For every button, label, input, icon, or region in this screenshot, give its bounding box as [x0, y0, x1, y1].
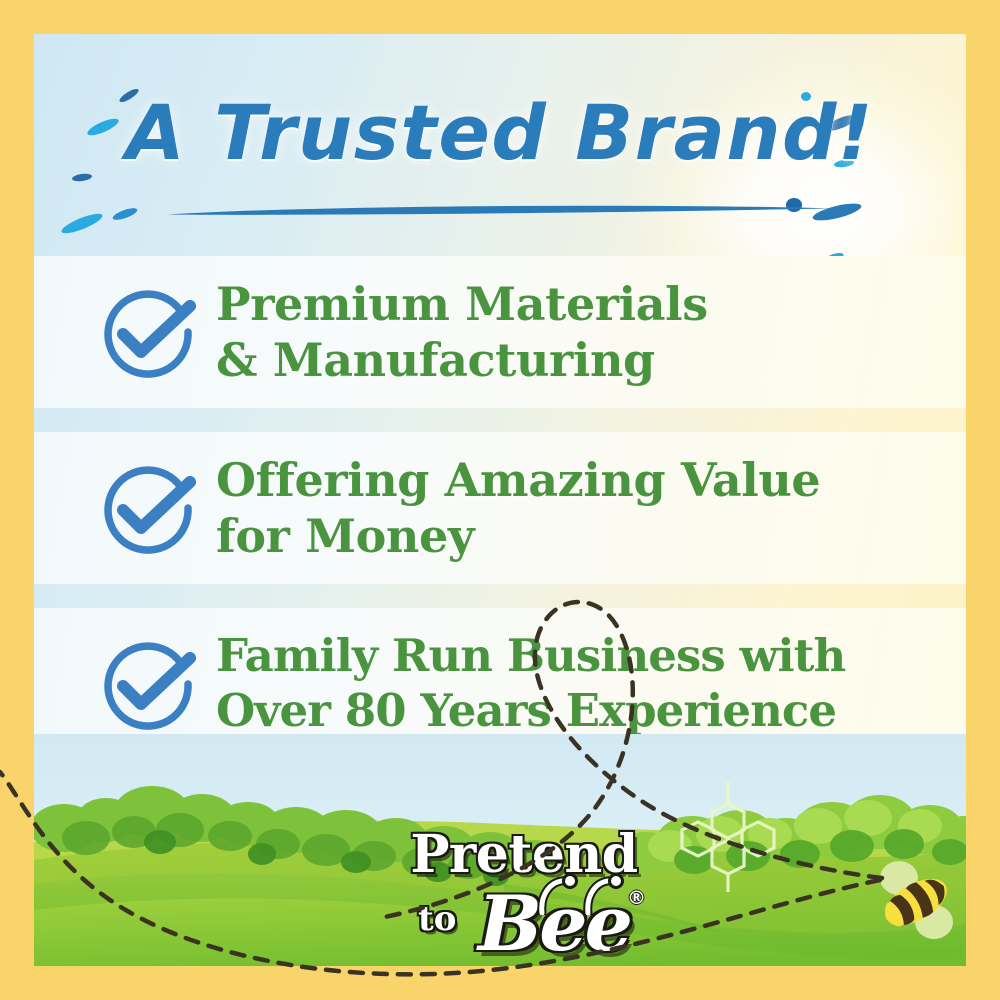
bee-illustration	[872, 860, 960, 944]
check-circle-icon	[94, 632, 202, 736]
landscape-scene	[34, 734, 966, 966]
page-title: A Trusted Brand!	[34, 88, 966, 177]
headline-underline	[166, 203, 834, 218]
benefit-row: Offering Amazing Value for Money	[34, 432, 966, 584]
headline-section: A Trusted Brand!	[34, 70, 966, 245]
benefit-label: Offering Amazing Value for Money	[216, 452, 820, 564]
poster-inner-panel: A Trusted Brand! Premium Materials & Man…	[34, 34, 966, 966]
benefit-label: Family Run Business with Over 80 Years E…	[216, 629, 845, 739]
benefit-row: Premium Materials & Manufacturing	[34, 256, 966, 408]
check-circle-icon	[94, 456, 202, 560]
poster-root: A Trusted Brand! Premium Materials & Man…	[0, 0, 1000, 1000]
sparkle-icon	[111, 206, 138, 222]
benefit-label: Premium Materials & Manufacturing	[216, 276, 708, 388]
check-circle-icon	[94, 280, 202, 384]
sparkle-icon	[60, 210, 105, 237]
